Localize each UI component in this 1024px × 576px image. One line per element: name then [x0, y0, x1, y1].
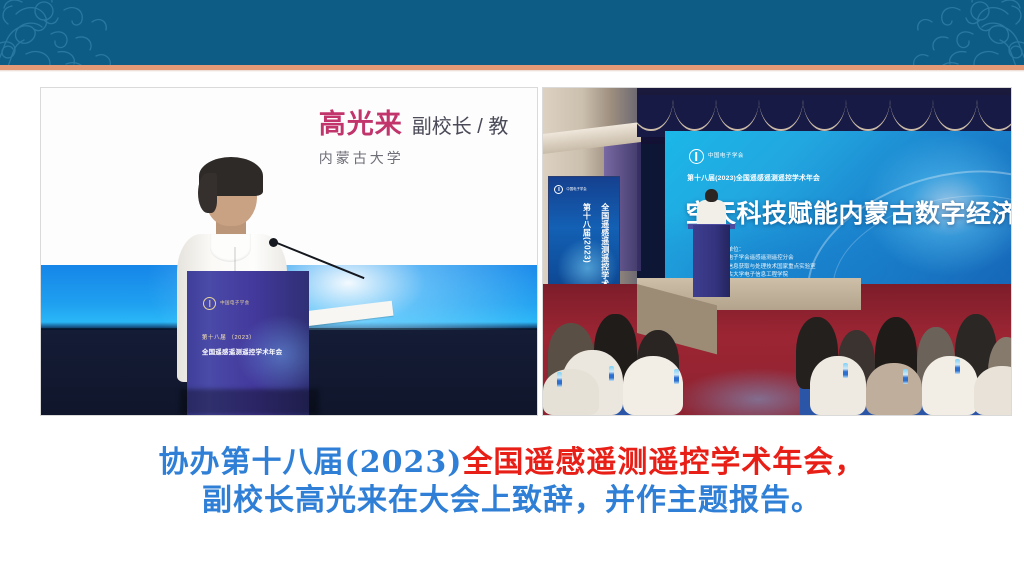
slide-root: 高光来副校长 / 教 内蒙古大学 中国电子学会 第十八届 （2023） 全国遥感…	[0, 0, 1024, 576]
slide-caption: 协办第十八届(2023)全国遥感遥测遥控学术年会， 副校长高光来在大会上致辞，并…	[0, 444, 1024, 521]
podium-conference-text: 全国遥感遥测遥控学术年会	[202, 346, 282, 356]
header-divider-shadow	[0, 70, 1024, 72]
projected-speaker-org: 内蒙古大学	[319, 152, 537, 166]
cie-emblem-icon	[689, 149, 704, 164]
audience-person	[810, 356, 866, 415]
floral-scroll-ornament-left-icon	[0, 0, 146, 65]
cie-emblem-icon	[203, 297, 216, 310]
banner-logo: 中国电子学会	[554, 185, 586, 194]
stage-speaker-head	[705, 189, 717, 202]
water-bottle	[674, 369, 679, 384]
audience-person	[922, 356, 978, 415]
audience-person	[623, 356, 684, 415]
podium-right	[693, 225, 730, 297]
podium-edition-text: 第十八届 （2023）	[202, 333, 255, 341]
projected-slide-text: 高光来副校长 / 教 内蒙古大学	[319, 111, 537, 166]
screen-subtitle: 第十八届(2023)全国遥感遥测遥控学术年会	[687, 172, 820, 182]
water-bottle	[955, 359, 960, 374]
podium-logo-text: 中国电子学会	[220, 300, 249, 306]
caption-line-1-red: 全国遥感遥测遥控学术年会，	[462, 445, 865, 480]
screen-logo: 中国电子学会	[689, 149, 744, 164]
header-band	[0, 0, 1024, 65]
water-bottle	[609, 366, 614, 381]
speaker-collar	[210, 234, 251, 262]
cie-emblem-icon	[554, 185, 563, 194]
photo-right-conference-hall: 中国电子学会 第十八届(2023)全国遥感遥测遥控学术年会 空天科技赋能内蒙古数…	[543, 88, 1011, 415]
podium-logo: 中国电子学会	[203, 297, 249, 310]
projected-speaker-title: 副校长 / 教	[412, 117, 509, 137]
audience-person	[866, 363, 922, 415]
caption-line-1: 协办第十八届(2023)全国遥感遥测遥控学术年会，	[0, 444, 1024, 482]
stage-speaker-figure	[697, 189, 725, 228]
photo-left-keynote-speaker: 高光来副校长 / 教 内蒙古大学 中国电子学会 第十八届 （2023） 全国遥感…	[41, 88, 537, 415]
water-bottle	[903, 369, 908, 384]
banner-edition-text: 第十八届(2023)	[581, 203, 592, 263]
screen-organizers: 主办单位： 中国电子学会遥感遥测遥控分会 空间信息获取与处理技术国家重点实验室 …	[717, 246, 816, 280]
water-bottle	[843, 363, 848, 378]
audience-person	[543, 369, 599, 415]
banner-logo-text: 中国电子学会	[566, 187, 586, 191]
floral-scroll-ornament-right-icon	[878, 0, 1024, 65]
water-bottle	[557, 372, 562, 387]
screen-logo-text: 中国电子学会	[708, 153, 744, 160]
caption-line-1-blue: 协办第十八届(2023)	[159, 445, 463, 480]
projected-speaker-name: 高光来	[319, 111, 403, 138]
podium-shadow	[180, 389, 319, 415]
speaker-hair-side	[198, 173, 217, 214]
caption-line-2: 副校长高光来在大会上致辞，并作主题报告。	[0, 482, 1024, 520]
